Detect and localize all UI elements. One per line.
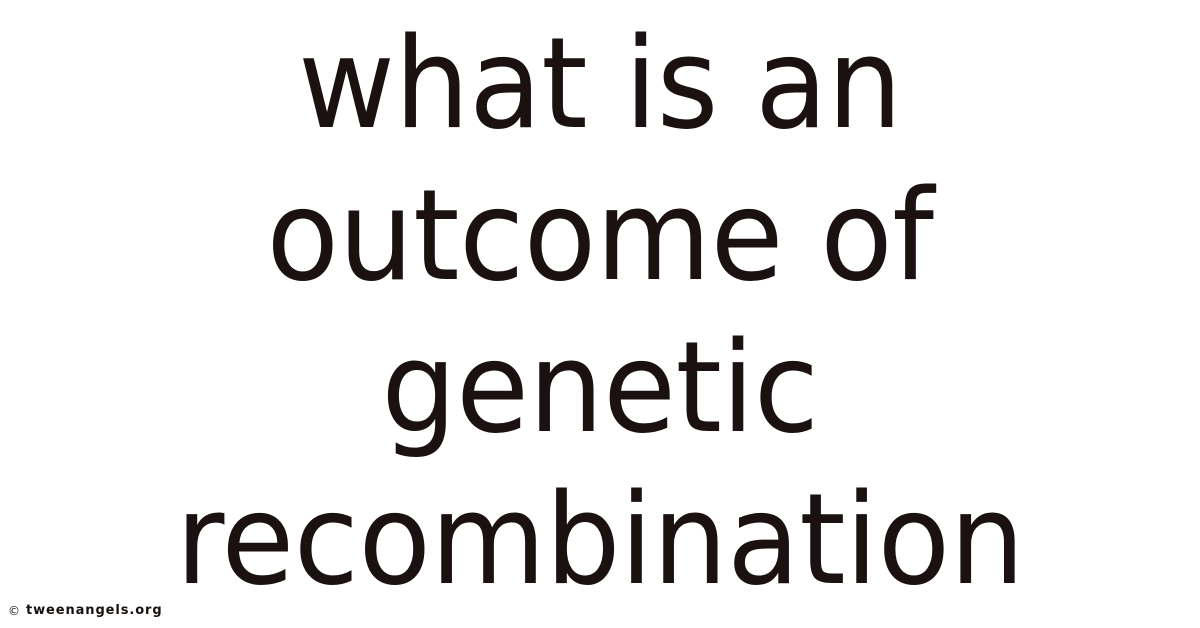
text-card: what is an outcome of genetic recombinat… (0, 0, 1200, 628)
headline-line-2: outcome of (36, 160, 1164, 312)
watermark-site-label: tweenangels.org (26, 604, 163, 618)
headline-line-4: recombination (36, 464, 1164, 616)
headline-line-1: what is an (36, 8, 1164, 160)
copyright-icon: © (8, 604, 20, 618)
watermark: © tweenangels.org (8, 604, 163, 618)
headline-block: what is an outcome of genetic recombinat… (0, 0, 1200, 628)
headline-line-3: genetic (36, 312, 1164, 464)
